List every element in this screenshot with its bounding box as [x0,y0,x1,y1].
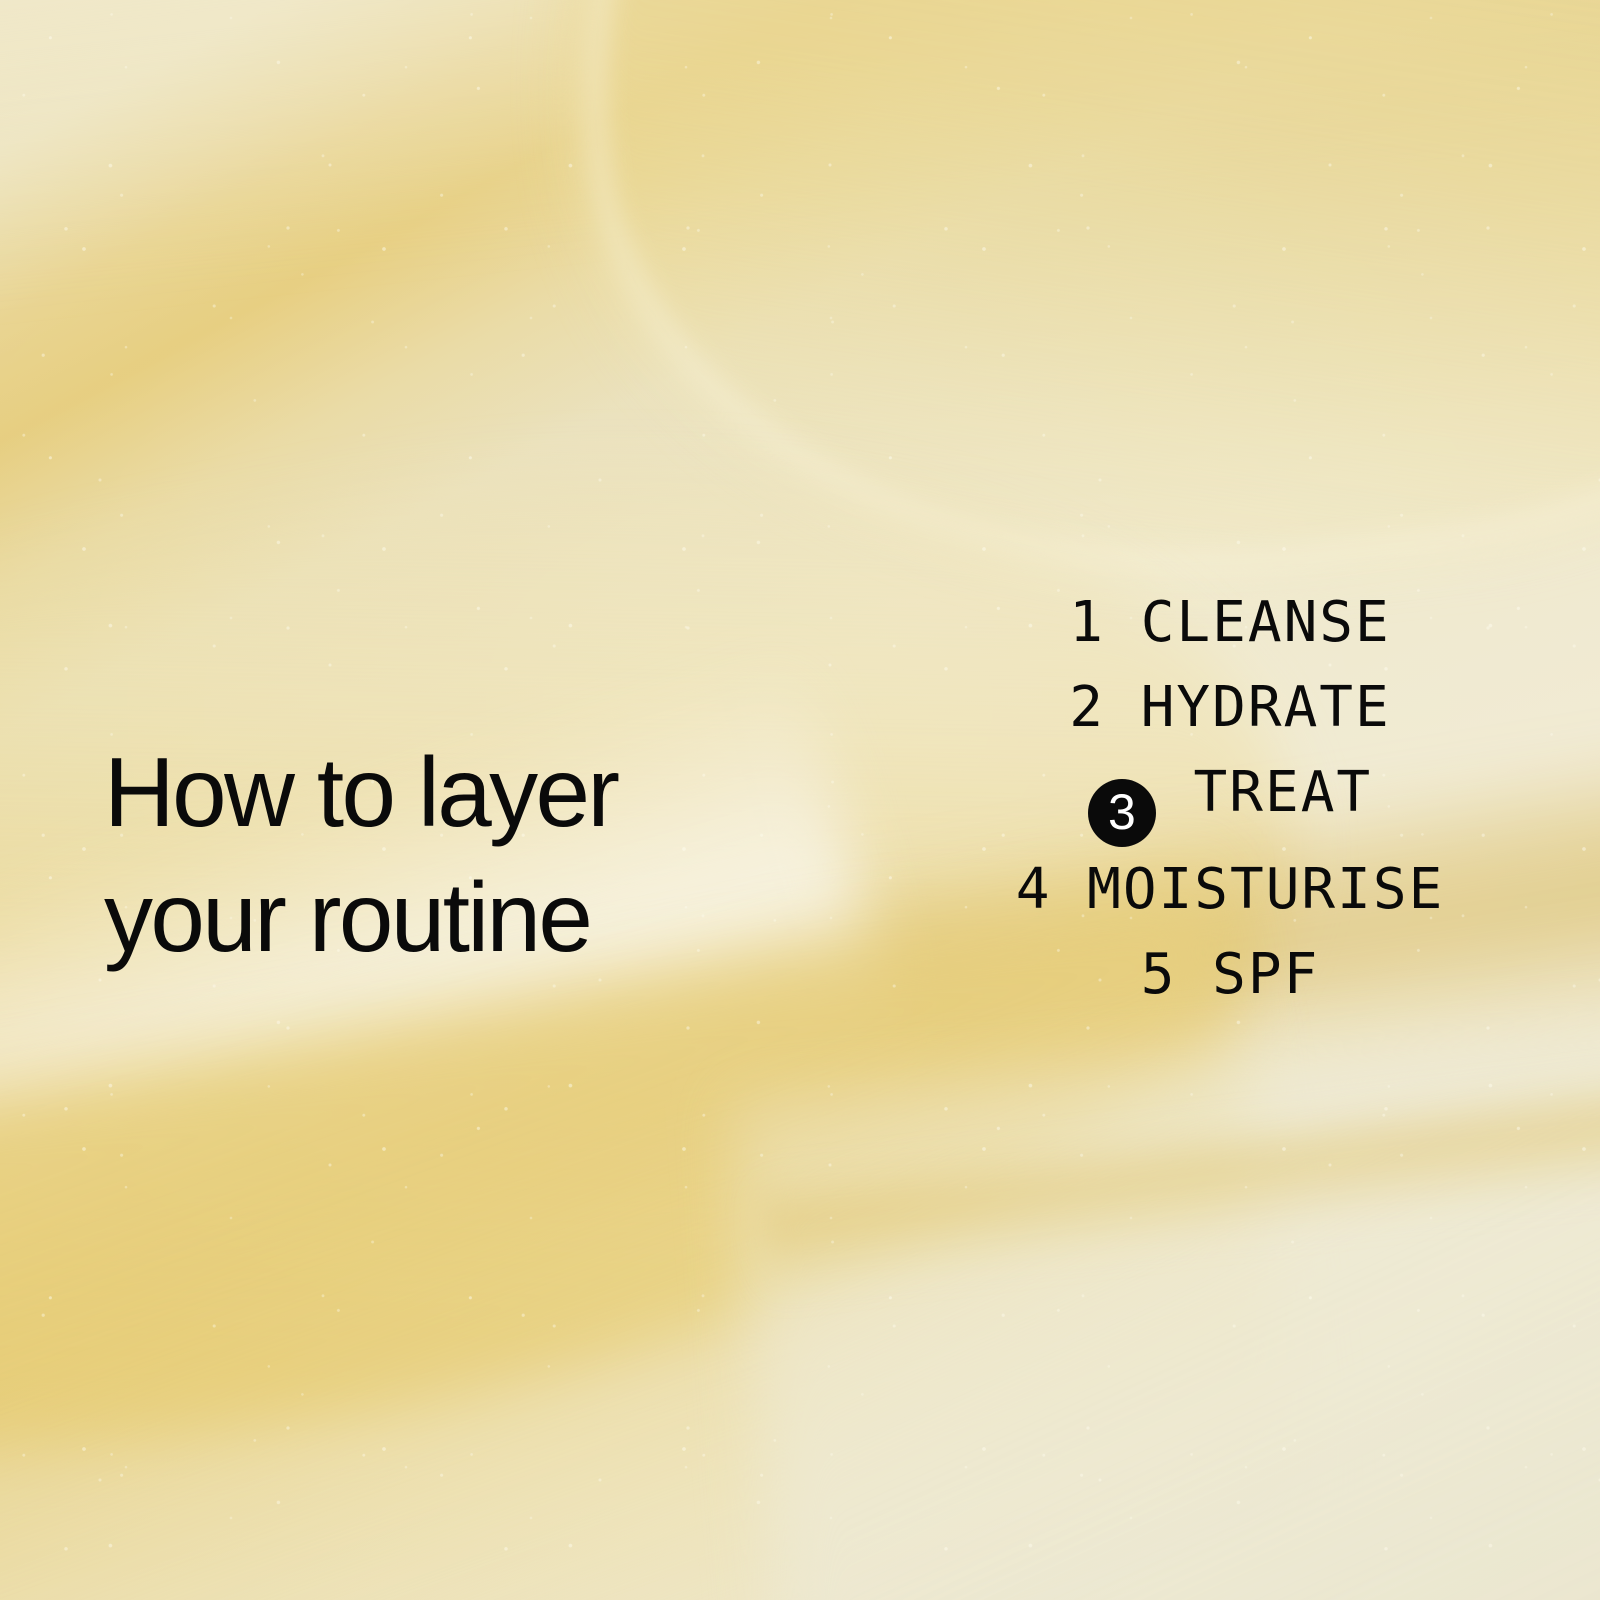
routine-step-cleanse[interactable]: 1 CLEANSE [930,580,1530,665]
step-label: MOISTURISE [1051,857,1444,922]
promo-card: How to layer your routine 1 CLEANSE2 HYD… [0,0,1600,1600]
step-number: 2 [1069,675,1105,740]
routine-step-moisturise[interactable]: 4 MOISTURISE [930,847,1530,932]
routine-step-spf[interactable]: 5 SPF [930,932,1530,1017]
step-number: 4 [1016,857,1052,922]
step-label: CLEANSE [1105,590,1391,655]
step-label: SPF [1176,942,1319,1007]
step-number: 5 [1141,942,1177,1007]
step-number-badge: 3 [1088,779,1156,847]
routine-step-treat[interactable]: 3 TREAT [930,750,1530,847]
step-label: HYDRATE [1105,675,1391,740]
routine-step-hydrate[interactable]: 2 HYDRATE [930,665,1530,750]
step-label: TREAT [1158,760,1372,825]
routine-steps-list: 1 CLEANSE2 HYDRATE3 TREAT4 MOISTURISE5 S… [930,580,1530,1017]
page-title: How to layer your routine [104,730,864,981]
step-number: 1 [1069,590,1105,655]
